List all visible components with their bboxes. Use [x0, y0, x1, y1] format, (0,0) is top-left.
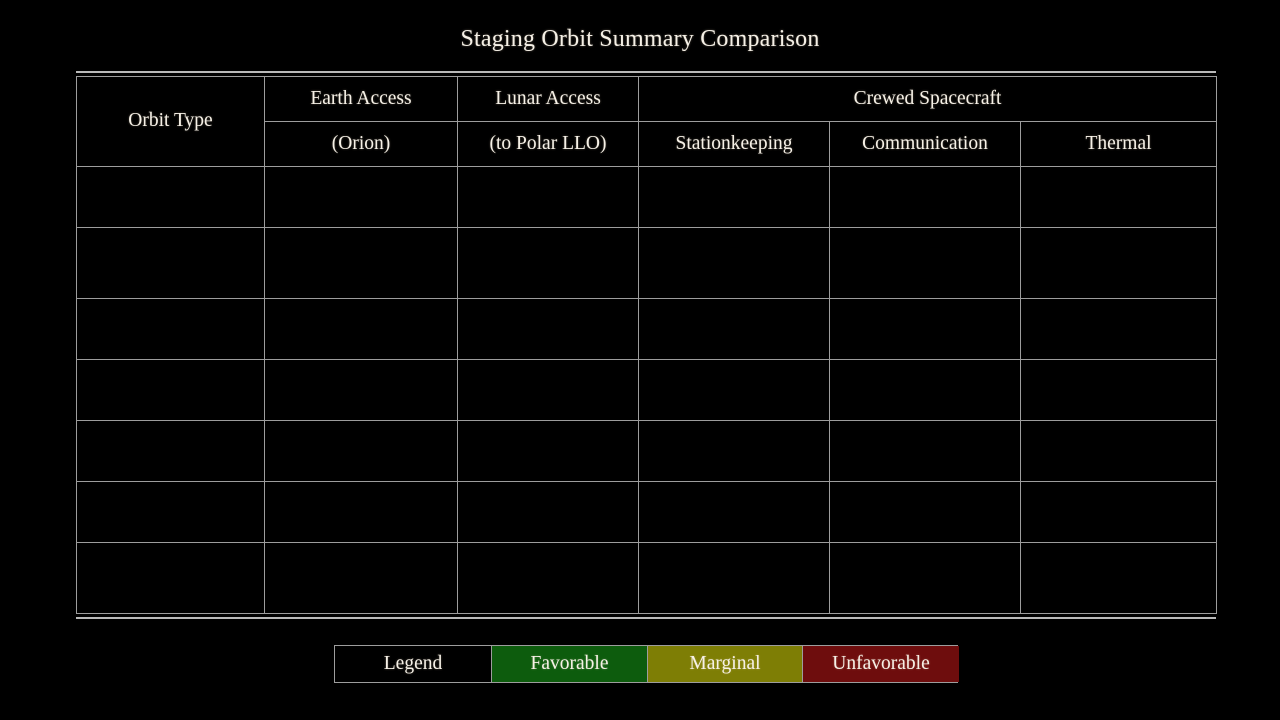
col-header-crewed-spacecraft: Crewed Spacecraft: [639, 77, 1217, 122]
table-header: Orbit Type Earth Access Lunar Access Cre…: [77, 77, 1217, 167]
col-header-orbit-type: Orbit Type: [77, 77, 265, 167]
cell-stationkeeping: [639, 543, 830, 614]
cell-communication: [830, 167, 1021, 228]
cell-earth-access: [265, 228, 458, 299]
cell-earth-access: [265, 482, 458, 543]
legend-swatch-favorable: Favorable: [492, 646, 648, 682]
table-body: [77, 167, 1217, 614]
table-row: [77, 228, 1217, 299]
cell-thermal: [1021, 167, 1217, 228]
legend-label: Legend: [335, 646, 492, 682]
col-header-communication: Communication: [830, 122, 1021, 167]
cell-earth-access: [265, 360, 458, 421]
col-header-earth-access-sub: (Orion): [265, 122, 458, 167]
cell-earth-access: [265, 543, 458, 614]
cell-earth-access: [265, 421, 458, 482]
col-header-stationkeeping: Stationkeeping: [639, 122, 830, 167]
cell-communication: [830, 482, 1021, 543]
table-row: [77, 360, 1217, 421]
table-row: [77, 421, 1217, 482]
cell-orbit-type: [77, 228, 265, 299]
cell-orbit-type: [77, 543, 265, 614]
table-header-row-top: Orbit Type Earth Access Lunar Access Cre…: [77, 77, 1217, 122]
cell-stationkeeping: [639, 482, 830, 543]
table-row: [77, 543, 1217, 614]
cell-thermal: [1021, 543, 1217, 614]
cell-thermal: [1021, 421, 1217, 482]
cell-earth-access: [265, 299, 458, 360]
page-title: Staging Orbit Summary Comparison: [0, 26, 1280, 53]
cell-communication: [830, 228, 1021, 299]
cell-lunar-access: [458, 543, 639, 614]
cell-earth-access: [265, 167, 458, 228]
cell-orbit-type: [77, 360, 265, 421]
slide-canvas: Staging Orbit Summary Comparison Orbit T…: [0, 0, 1280, 720]
cell-communication: [830, 360, 1021, 421]
cell-communication: [830, 543, 1021, 614]
cell-thermal: [1021, 360, 1217, 421]
cell-lunar-access: [458, 299, 639, 360]
cell-lunar-access: [458, 421, 639, 482]
cell-orbit-type: [77, 299, 265, 360]
col-header-earth-access: Earth Access: [265, 77, 458, 122]
cell-stationkeeping: [639, 167, 830, 228]
table-row: [77, 167, 1217, 228]
legend-swatch-marginal: Marginal: [648, 646, 803, 682]
cell-orbit-type: [77, 421, 265, 482]
cell-communication: [830, 299, 1021, 360]
cell-thermal: [1021, 228, 1217, 299]
col-header-thermal: Thermal: [1021, 122, 1217, 167]
cell-lunar-access: [458, 482, 639, 543]
cell-lunar-access: [458, 360, 639, 421]
cell-lunar-access: [458, 167, 639, 228]
legend: Legend Favorable Marginal Unfavorable: [334, 645, 958, 683]
orbit-comparison-table: Orbit Type Earth Access Lunar Access Cre…: [76, 76, 1217, 614]
orbit-comparison-table-frame: Orbit Type Earth Access Lunar Access Cre…: [76, 71, 1216, 619]
table-row: [77, 482, 1217, 543]
cell-stationkeeping: [639, 360, 830, 421]
cell-thermal: [1021, 482, 1217, 543]
cell-stationkeeping: [639, 421, 830, 482]
table-row: [77, 299, 1217, 360]
cell-orbit-type: [77, 482, 265, 543]
col-header-lunar-access-sub: (to Polar LLO): [458, 122, 639, 167]
cell-stationkeeping: [639, 228, 830, 299]
cell-orbit-type: [77, 167, 265, 228]
cell-lunar-access: [458, 228, 639, 299]
cell-communication: [830, 421, 1021, 482]
col-header-lunar-access: Lunar Access: [458, 77, 639, 122]
cell-stationkeeping: [639, 299, 830, 360]
cell-thermal: [1021, 299, 1217, 360]
legend-swatch-unfavorable: Unfavorable: [803, 646, 959, 682]
